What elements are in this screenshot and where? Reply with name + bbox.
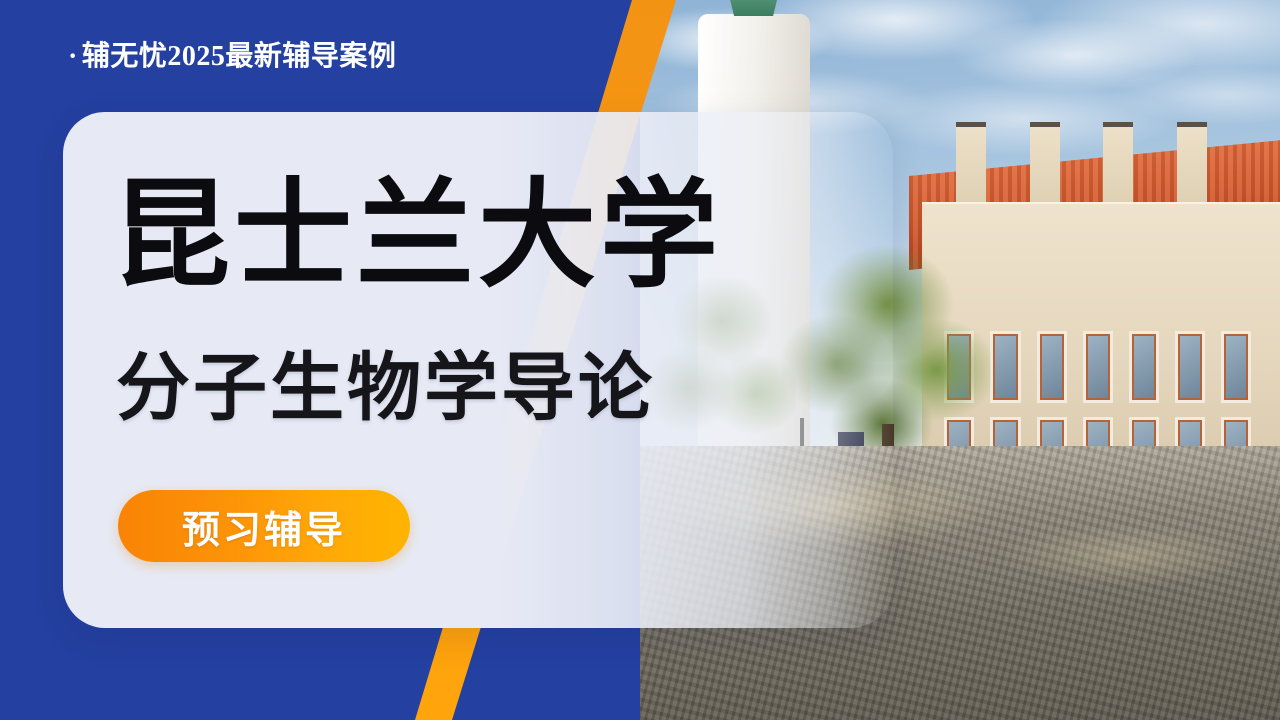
promo-banner: ·辅无忧2025最新辅导案例 昆士兰大学 分子生物学导论 预习辅导 (0, 0, 1280, 720)
bullet-icon: · (68, 41, 78, 72)
preview-tutoring-button[interactable]: 预习辅导 (118, 490, 410, 562)
facade-window (1221, 331, 1251, 403)
page-subtitle: 分子生物学导论 (116, 352, 655, 426)
tower-green-dome (727, 0, 781, 16)
facade-window (1175, 331, 1205, 403)
kicker-text: ·辅无忧2025最新辅导案例 (68, 34, 396, 74)
facade-window (1037, 331, 1067, 403)
kicker-label: 辅无忧2025最新辅导案例 (82, 41, 397, 72)
facade-window (1129, 331, 1159, 403)
facade-window (1083, 331, 1113, 403)
page-title: 昆士兰大学 (112, 178, 722, 296)
facade-window (990, 331, 1020, 403)
preview-tutoring-button-label: 预习辅导 (182, 499, 346, 554)
